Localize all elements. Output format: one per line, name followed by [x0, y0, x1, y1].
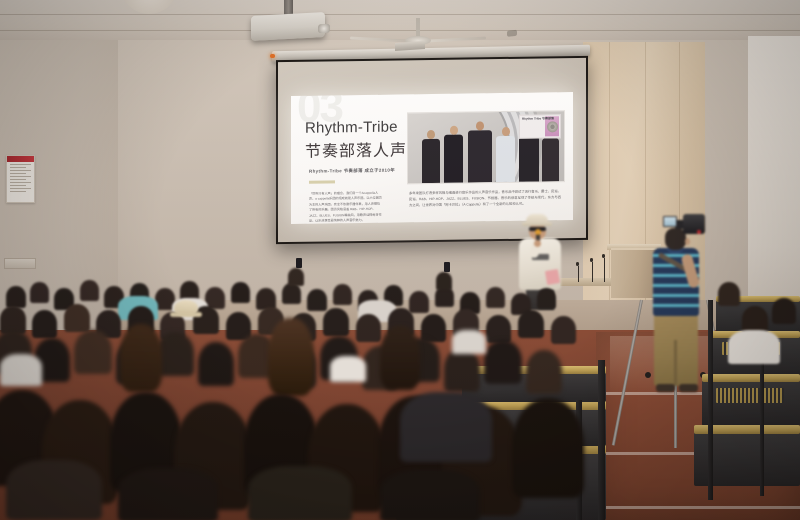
camera-monitor-screen — [663, 216, 677, 227]
slide-title-english: Rhythm-Tribe — [305, 118, 398, 136]
projector-lens-icon — [318, 24, 330, 34]
presenter-hand — [534, 240, 541, 247]
band-logo-badge: Rhythm Tribe 节奏部落 — [519, 114, 561, 139]
raised-phone-icon — [296, 258, 302, 268]
cap-icon — [526, 214, 548, 224]
microphone-grille — [535, 229, 541, 235]
microphone-icon — [576, 262, 579, 266]
cameraman-shoe — [679, 384, 698, 392]
presenter-cue-card — [545, 269, 560, 285]
slide-body-right: 多年来团队打造多样风格与编曲进行音乐作品的人声音乐作品，音乐品中尝试了流行音乐、… — [409, 189, 561, 209]
projector-icon — [251, 12, 325, 41]
right-wall — [748, 36, 800, 336]
audience-member — [728, 330, 780, 364]
cameraman — [645, 222, 707, 447]
slide-body-left: 「世界只有人声」的理念，我们用一个Acappella人声，a cappella乐… — [309, 191, 383, 224]
camera-record-light-icon — [697, 230, 701, 234]
slide-accent-bar — [309, 180, 335, 183]
video-camera-icon — [683, 214, 705, 234]
projected-slide: 03 Rhythm-Tribe 节奏部落人声乐团 Rhythm-Tribe 节奏… — [291, 92, 573, 224]
wall-vent — [4, 258, 36, 269]
bench-row — [702, 380, 800, 426]
cameraman-shoe — [656, 384, 675, 392]
band-logo-text: Rhythm Tribe 节奏部落 — [522, 117, 554, 121]
lecture-hall-photo: 03 Rhythm-Tribe 节奏部落人声乐团 Rhythm-Tribe 节奏… — [0, 0, 800, 520]
slide-band-photo: Rhythm Tribe 节奏部落 — [407, 110, 565, 184]
slide-subtitle: Rhythm-Tribe 节奏部落 成立于2010年 — [309, 168, 395, 175]
audience-member — [268, 318, 314, 396]
wall-notice-board — [6, 155, 35, 203]
raised-phone-icon — [444, 262, 450, 272]
projector-status-led-icon — [270, 54, 275, 58]
microphone-stand — [578, 266, 579, 282]
ceiling-fan-rod — [416, 18, 420, 38]
notice-header-bar — [7, 156, 34, 162]
